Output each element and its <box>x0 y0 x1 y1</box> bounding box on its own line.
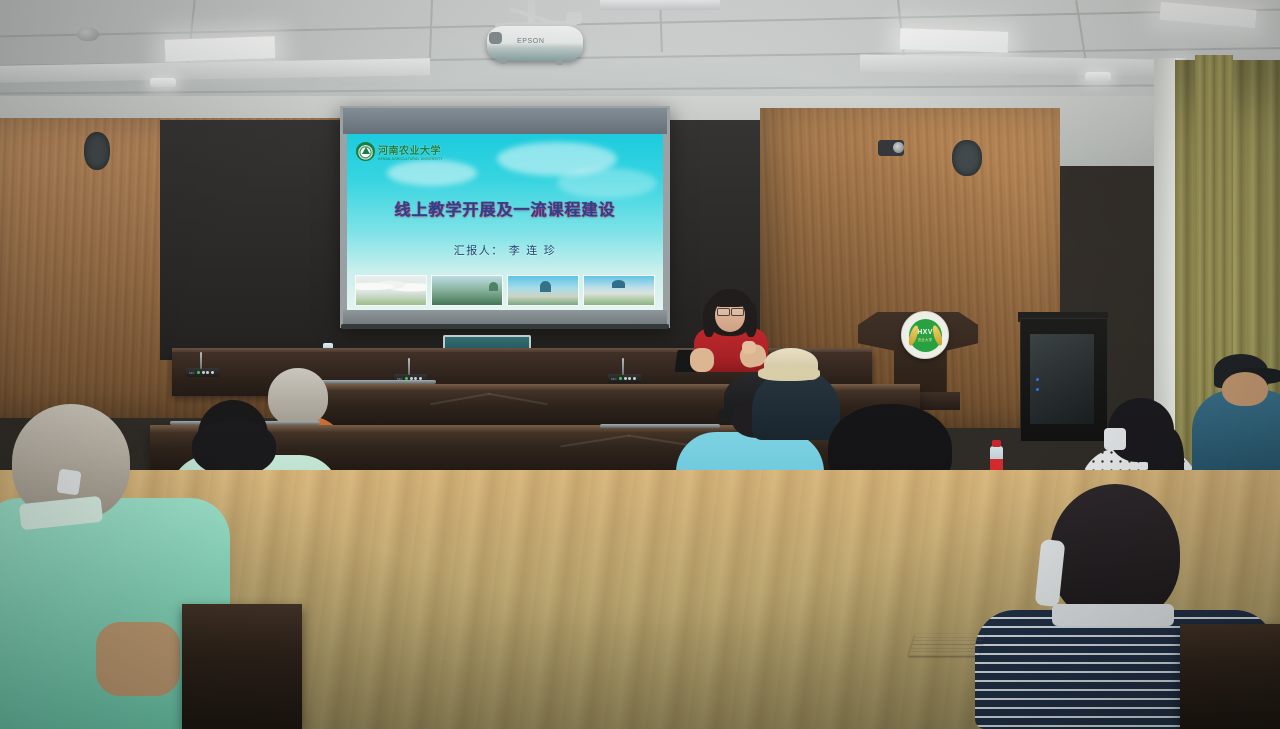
presenter-hair-side <box>745 303 757 337</box>
face-mask <box>1104 428 1126 450</box>
university-name-cn: 河南农业大学 <box>378 142 443 157</box>
projector-foot <box>500 58 507 64</box>
presenter-glasses-icon <box>717 308 730 316</box>
projector-foot <box>556 59 563 65</box>
projector-mount-bracket <box>566 12 582 24</box>
open-notebook <box>908 634 985 656</box>
university-name-en: HENAN AGRICULTURAL UNIVERSITY <box>378 157 443 161</box>
presenter-hand <box>742 341 756 354</box>
ceiling-light-panel <box>165 36 276 62</box>
equipment-rack-glass-door[interactable] <box>1030 334 1094 424</box>
presenter-hair-side <box>703 303 715 337</box>
audience-head <box>1050 484 1180 622</box>
emblem-text: HXV <box>917 329 933 336</box>
bottle-cap <box>992 440 1001 447</box>
rack-status-led <box>1036 378 1039 381</box>
presenter-arm-left <box>690 348 714 372</box>
slide-presenter-line: 汇报人： 李 连 珍 <box>347 242 663 258</box>
cap-brim <box>758 366 820 381</box>
slide-photo-1 <box>355 275 427 306</box>
face-mask <box>56 469 81 496</box>
screen-top-masking <box>343 108 667 134</box>
recessed-downlight <box>150 78 176 87</box>
security-camera-icon <box>878 140 904 156</box>
audience-head <box>268 368 328 426</box>
lecture-hall-photo: EPSON 河南农业大学 HENAN AGRICULTURAL UNIVERSI… <box>0 0 1280 729</box>
smoke-detector-icon <box>77 28 99 41</box>
slide-title: 线上教学开展及一流课程建设 <box>347 196 663 220</box>
slide-photo-2 <box>431 275 503 306</box>
projector-lens-icon <box>489 32 502 44</box>
slide-photo-3 <box>507 275 579 306</box>
slide-university-logo: 河南农业大学 HENAN AGRICULTURAL UNIVERSITY <box>356 142 443 161</box>
recessed-downlight <box>1085 72 1111 81</box>
mic-gooseneck <box>622 358 624 375</box>
conference-mic-unit[interactable]: MIC <box>186 368 219 377</box>
ceiling-light-panel <box>900 28 1009 53</box>
mic-label: MIC <box>611 377 617 381</box>
university-emblem-icon: HXV 农业大学 <box>901 311 949 359</box>
ceiling-strip <box>600 0 720 10</box>
presentation-slide: 河南农业大学 HENAN AGRICULTURAL UNIVERSITY 线上教… <box>347 134 663 310</box>
rack-status-led <box>1036 388 1039 391</box>
front-bench-back <box>182 604 302 729</box>
audience-arm <box>96 622 180 696</box>
wall-speaker-icon <box>84 132 110 170</box>
emblem-inner-disc: HXV 农业大学 <box>909 319 942 352</box>
mic-gooseneck <box>408 358 410 375</box>
desk-rail <box>600 424 720 428</box>
slide-photo-strip <box>355 275 655 306</box>
projector-brand-label: EPSON <box>517 38 545 45</box>
emblem-subtext: 农业大学 <box>918 337 932 342</box>
screen-weight-bar <box>341 324 669 329</box>
desk-rail <box>316 380 436 384</box>
wall-speaker-icon <box>952 140 982 176</box>
audience-hair <box>192 420 276 476</box>
audience-collar <box>1052 604 1174 626</box>
university-crest-icon <box>356 142 375 161</box>
presenter-fringe <box>712 294 748 307</box>
front-bench-back-right <box>1180 624 1280 729</box>
slide-photo-4 <box>583 275 655 306</box>
presenter-glasses-icon <box>731 308 744 316</box>
mic-gooseneck <box>200 352 202 369</box>
mic-label: MIC <box>189 371 195 375</box>
conference-mic-unit[interactable]: MIC <box>608 374 641 383</box>
audience-head <box>1222 372 1268 406</box>
